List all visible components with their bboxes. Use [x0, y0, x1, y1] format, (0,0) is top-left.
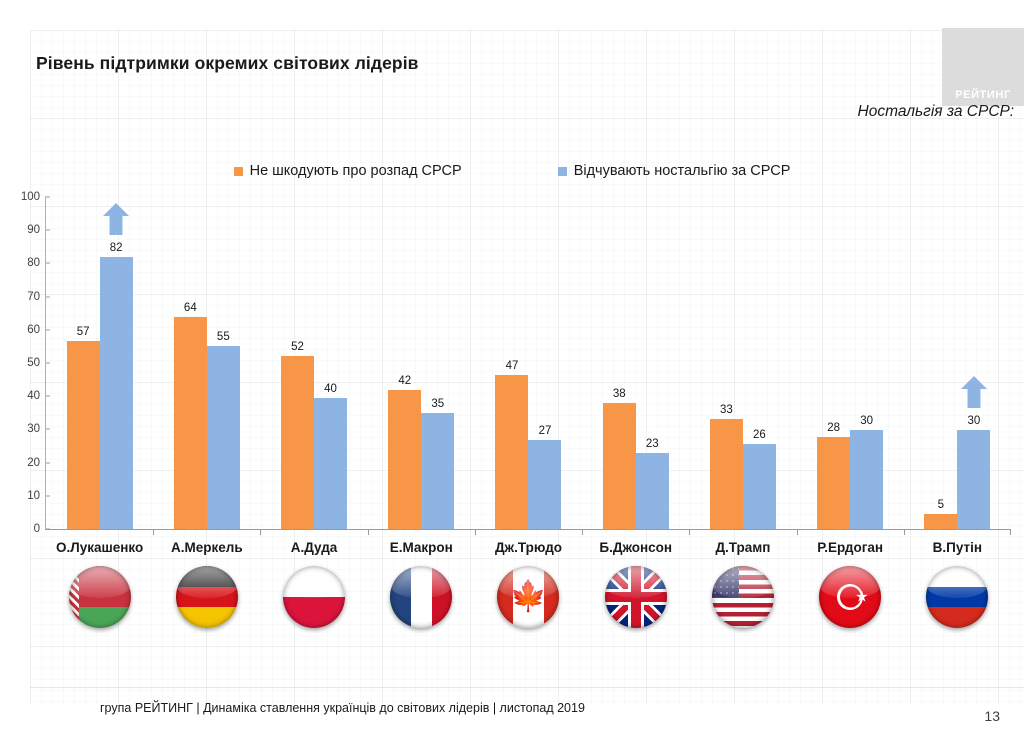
- page-number: 13: [984, 708, 1000, 724]
- flag-icon-belarus: [69, 566, 131, 628]
- x-axis-tick-mark: [797, 529, 798, 535]
- y-axis-tick-label: 90: [27, 224, 40, 236]
- bar[interactable]: [421, 413, 454, 529]
- bar[interactable]: [281, 356, 314, 529]
- y-axis-tick-label: 70: [27, 291, 40, 303]
- bar[interactable]: [603, 403, 636, 529]
- bar-value-label: 30: [967, 415, 980, 427]
- bar[interactable]: [817, 437, 850, 529]
- footer-source: група РЕЙТИНГ | Динаміка ставлення украї…: [100, 701, 585, 715]
- bar[interactable]: [174, 317, 207, 529]
- bar-column[interactable]: 40: [314, 197, 347, 529]
- bar-group: 530: [904, 197, 1011, 529]
- bar[interactable]: [850, 430, 883, 529]
- bar[interactable]: [100, 257, 133, 529]
- category-label: Дж.Трюдо: [475, 540, 582, 555]
- bar-group: 2830: [797, 197, 904, 529]
- bar-column[interactable]: 5: [924, 197, 957, 529]
- bar-value-label: 47: [506, 360, 519, 372]
- bar-column[interactable]: 42: [388, 197, 421, 529]
- logo-text: РЕЙТИНГ: [942, 89, 1024, 101]
- bar-value-label: 35: [431, 398, 444, 410]
- category-item: Д.Трамп: [689, 540, 796, 628]
- flag-icon-canada: 🍁: [497, 566, 559, 628]
- category-axis: О.ЛукашенкоА.МеркельА.ДудаЕ.МакронДж.Трю…: [46, 540, 1011, 655]
- x-axis-tick-mark: [368, 529, 369, 535]
- category-item: О.Лукашенко: [46, 540, 153, 628]
- chart-legend: Не шкодують про розпад СРСРВідчувають но…: [0, 163, 1024, 179]
- bar-groups: 57826455524042354727382333262830530: [46, 197, 1011, 529]
- y-axis-tick-label: 30: [27, 423, 40, 435]
- x-axis-tick-mark: [1010, 529, 1011, 535]
- bar-column[interactable]: 47: [495, 197, 528, 529]
- x-axis-tick-mark: [582, 529, 583, 535]
- flag-icon-usa: [712, 566, 774, 628]
- category-item: Дж.Трюдо🍁: [475, 540, 582, 628]
- category-label: Д.Трамп: [689, 540, 796, 555]
- bar-value-label: 23: [646, 438, 659, 450]
- y-axis: 0102030405060708090100: [12, 190, 46, 530]
- legend-label: Не шкодують про розпад СРСР: [250, 163, 462, 179]
- legend-item-1[interactable]: Не шкодують про розпад СРСР: [234, 163, 462, 179]
- bar-value-label: 42: [398, 375, 411, 387]
- page-title: Рівень підтримки окремих світових лідері…: [36, 53, 419, 74]
- bar-group: 3326: [689, 197, 796, 529]
- x-axis-tick-mark: [260, 529, 261, 535]
- bar-value-label: 82: [110, 242, 123, 254]
- chart-subtitle: Ностальгія за СРСР:: [858, 103, 1014, 121]
- bar[interactable]: [314, 398, 347, 529]
- bar-value-label: 57: [77, 326, 90, 338]
- bar-value-label: 28: [827, 422, 840, 434]
- plot-area: 0102030405060708090100 57826455524042354…: [0, 190, 1024, 538]
- footer-divider: [30, 687, 1024, 688]
- bar-column[interactable]: 30: [850, 197, 883, 529]
- bar-column[interactable]: 57: [67, 197, 100, 529]
- bar-column[interactable]: 52: [281, 197, 314, 529]
- bar[interactable]: [710, 419, 743, 529]
- category-label: А.Дуда: [260, 540, 367, 555]
- bar-value-label: 26: [753, 429, 766, 441]
- bar[interactable]: [388, 390, 421, 529]
- bar-column[interactable]: 26: [743, 197, 776, 529]
- bar-column[interactable]: 30: [957, 197, 990, 529]
- legend-swatch-icon: [558, 167, 567, 176]
- flag-icon-russia: [926, 566, 988, 628]
- bar-column[interactable]: 28: [817, 197, 850, 529]
- legend-label: Відчувають ностальгію за СРСР: [574, 163, 791, 179]
- y-axis-tick-label: 60: [27, 324, 40, 336]
- bar-column[interactable]: 35: [421, 197, 454, 529]
- up-arrow-icon: [961, 376, 987, 408]
- x-axis-tick-mark: [904, 529, 905, 535]
- y-axis-tick-label: 50: [27, 357, 40, 369]
- y-axis-tick-label: 20: [27, 457, 40, 469]
- bar-column[interactable]: 82: [100, 197, 133, 529]
- bar[interactable]: [924, 514, 957, 529]
- bar-group: 4727: [475, 197, 582, 529]
- bar-value-label: 64: [184, 302, 197, 314]
- bar-value-label: 38: [613, 388, 626, 400]
- bar-column[interactable]: 23: [636, 197, 669, 529]
- x-axis-tick-mark: [689, 529, 690, 535]
- y-axis-tick-label: 80: [27, 257, 40, 269]
- bar-column[interactable]: 27: [528, 197, 561, 529]
- legend-item-2[interactable]: Відчувають ностальгію за СРСР: [558, 163, 791, 179]
- category-item: В.Путін: [904, 540, 1011, 628]
- y-axis-tick-label: 10: [27, 490, 40, 502]
- y-axis-tick-label: 100: [21, 191, 40, 203]
- category-label: Б.Джонсон: [582, 540, 689, 555]
- flag-icon-poland: [283, 566, 345, 628]
- bar[interactable]: [495, 375, 528, 529]
- bar[interactable]: [528, 440, 561, 529]
- bar-column[interactable]: 64: [174, 197, 207, 529]
- category-label: В.Путін: [904, 540, 1011, 555]
- bar-value-label: 33: [720, 404, 733, 416]
- x-axis-tick-mark: [475, 529, 476, 535]
- bar-group: 4235: [368, 197, 475, 529]
- bar-column[interactable]: 33: [710, 197, 743, 529]
- category-label: Е.Макрон: [368, 540, 475, 555]
- bar[interactable]: [207, 346, 240, 529]
- bar[interactable]: [957, 430, 990, 529]
- category-item: Р.Ердоган★: [797, 540, 904, 628]
- legend-swatch-icon: [234, 167, 243, 176]
- category-label: Р.Ердоган: [797, 540, 904, 555]
- category-item: Б.Джонсон: [582, 540, 689, 628]
- bar-group: 6455: [153, 197, 260, 529]
- flag-icon-turkey: ★: [819, 566, 881, 628]
- flag-icon-germany: [176, 566, 238, 628]
- bar[interactable]: [67, 341, 100, 529]
- category-item: Е.Макрон: [368, 540, 475, 628]
- flag-icon-united-kingdom: [605, 566, 667, 628]
- rating-logo: РЕЙТИНГ: [942, 28, 1024, 106]
- category-item: А.Меркель: [153, 540, 260, 628]
- bar[interactable]: [743, 444, 776, 529]
- bar-group: 3823: [582, 197, 689, 529]
- x-axis-tick-mark: [153, 529, 154, 535]
- y-axis-tick-label: 40: [27, 390, 40, 402]
- x-axis-line: [45, 529, 1011, 530]
- bar-value-label: 30: [860, 415, 873, 427]
- bar-group: 5782: [46, 197, 153, 529]
- y-axis-tick-label: 0: [34, 523, 40, 535]
- category-item: А.Дуда: [260, 540, 367, 628]
- bar-value-label: 5: [938, 499, 944, 511]
- bar-value-label: 52: [291, 341, 304, 353]
- bar-group: 5240: [260, 197, 367, 529]
- up-arrow-icon: [103, 203, 129, 235]
- category-label: О.Лукашенко: [46, 540, 153, 555]
- bar-value-label: 55: [217, 331, 230, 343]
- category-label: А.Меркель: [153, 540, 260, 555]
- bar-value-label: 27: [539, 425, 552, 437]
- flag-icon-france: [390, 566, 452, 628]
- bar-column[interactable]: 55: [207, 197, 240, 529]
- bar-value-label: 40: [324, 383, 337, 395]
- bar-column[interactable]: 38: [603, 197, 636, 529]
- bar[interactable]: [636, 453, 669, 529]
